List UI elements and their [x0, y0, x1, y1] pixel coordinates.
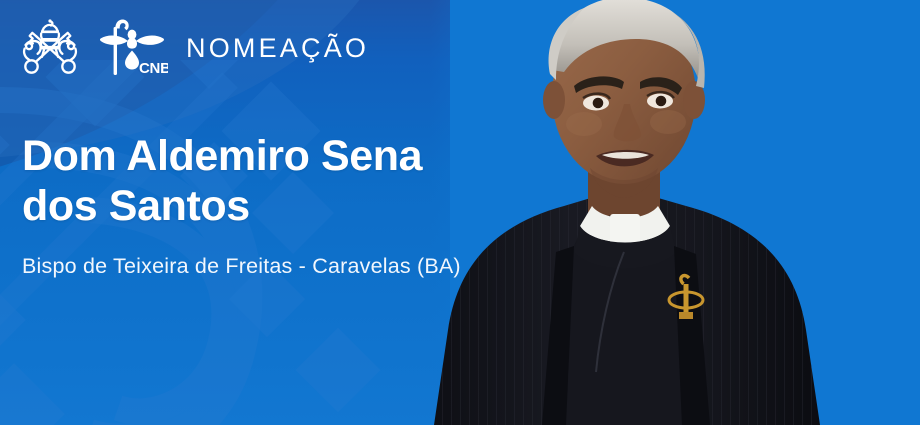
cnbb-wordmark: CNBB	[139, 60, 168, 77]
nomeacao-banner: CNBB NOMEAÇÃO Dom Aldemiro Sena dos Sant…	[0, 0, 920, 425]
banner-header: CNBB NOMEAÇÃO	[18, 16, 369, 80]
vatican-coat-of-arms-icon	[18, 18, 82, 78]
banner-text-block: Dom Aldemiro Sena dos Santos Bispo de Te…	[22, 132, 522, 280]
banner-kicker: NOMEAÇÃO	[186, 35, 369, 62]
page-title: Dom Aldemiro Sena dos Santos	[22, 132, 522, 232]
cnbb-logo-icon: CNBB	[96, 17, 168, 79]
page-subtitle: Bispo de Teixeira de Freitas - Caravelas…	[22, 254, 522, 280]
